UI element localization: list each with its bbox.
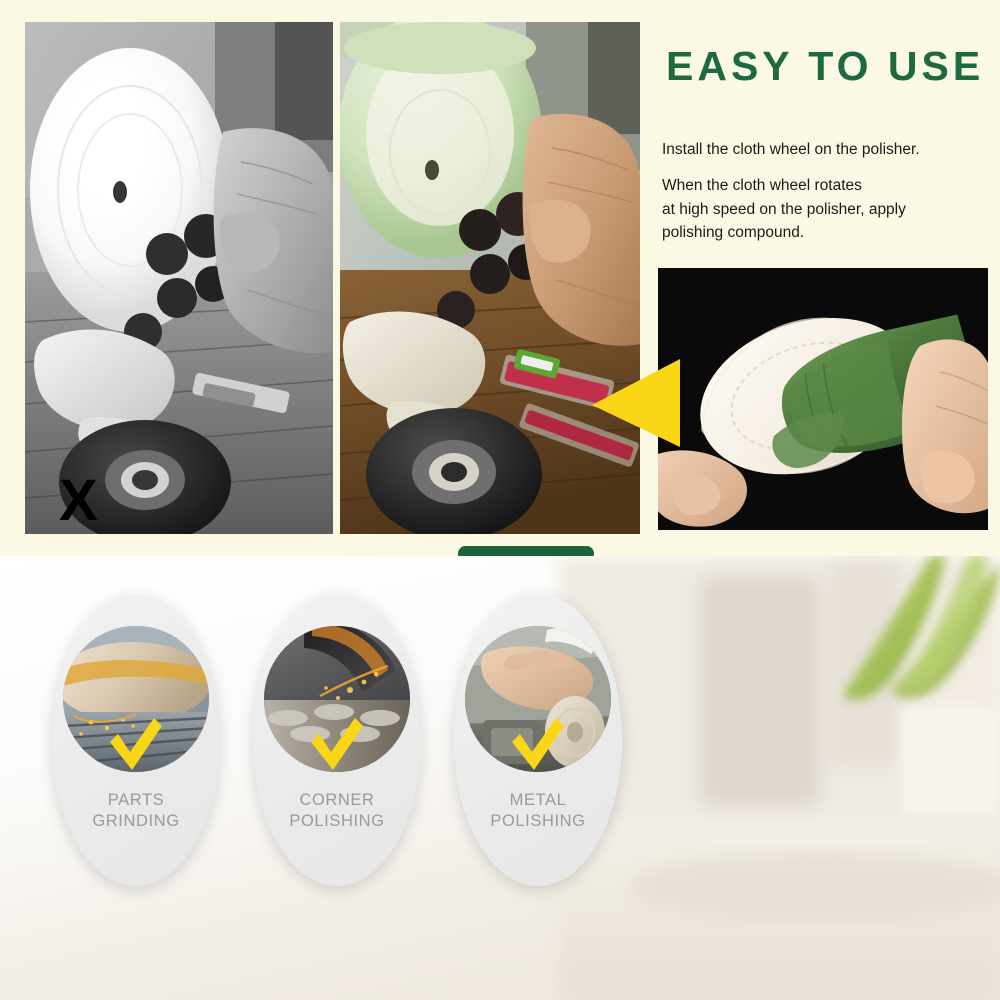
infographic-page: X bbox=[0, 0, 1000, 1000]
instruction-line-1: Install the cloth wheel on the polisher. bbox=[662, 138, 996, 161]
use-case-label-corner-polishing: CORNER POLISHING bbox=[253, 790, 421, 832]
label-line-1: CORNER bbox=[299, 791, 374, 809]
instruction-line-2a: When the cloth wheel rotates bbox=[662, 177, 862, 194]
instruction-line-2b: at high speed on the polisher, apply bbox=[662, 201, 906, 218]
check-icon bbox=[506, 712, 568, 774]
use-case-card-parts-grinding: PARTS GRINDING bbox=[52, 594, 220, 886]
check-icon bbox=[305, 712, 367, 774]
label-line-2: GRINDING bbox=[92, 812, 179, 830]
label-line-1: PARTS bbox=[108, 791, 165, 809]
instruction-line-2c: polishing compound. bbox=[662, 224, 804, 241]
label-line-2: POLISHING bbox=[490, 812, 585, 830]
label-line-2: POLISHING bbox=[289, 812, 384, 830]
photo-green-compound-on-wheel bbox=[658, 268, 988, 530]
photo-grayscale-wheel-beads: X bbox=[25, 22, 333, 534]
label-line-1: METAL bbox=[510, 791, 567, 809]
use-case-card-metal-polishing: METAL POLISHING bbox=[454, 594, 622, 886]
easy-to-use-section: X bbox=[0, 0, 1000, 556]
use-case-card-corner-polishing: CORNER POLISHING bbox=[253, 594, 421, 886]
instruction-line-2: When the cloth wheel rotates at high spe… bbox=[662, 174, 996, 244]
use-case-label-parts-grinding: PARTS GRINDING bbox=[52, 790, 220, 832]
photo-color-wheel-beads bbox=[340, 22, 640, 534]
svg-text:X: X bbox=[59, 468, 98, 533]
triangle-left-icon bbox=[588, 355, 682, 451]
use-case-label-metal-polishing: METAL POLISHING bbox=[454, 790, 622, 832]
check-icon bbox=[104, 712, 166, 774]
instruction-text: Install the cloth wheel on the polisher.… bbox=[662, 138, 996, 244]
page-title: EASY TO USE bbox=[666, 45, 996, 88]
